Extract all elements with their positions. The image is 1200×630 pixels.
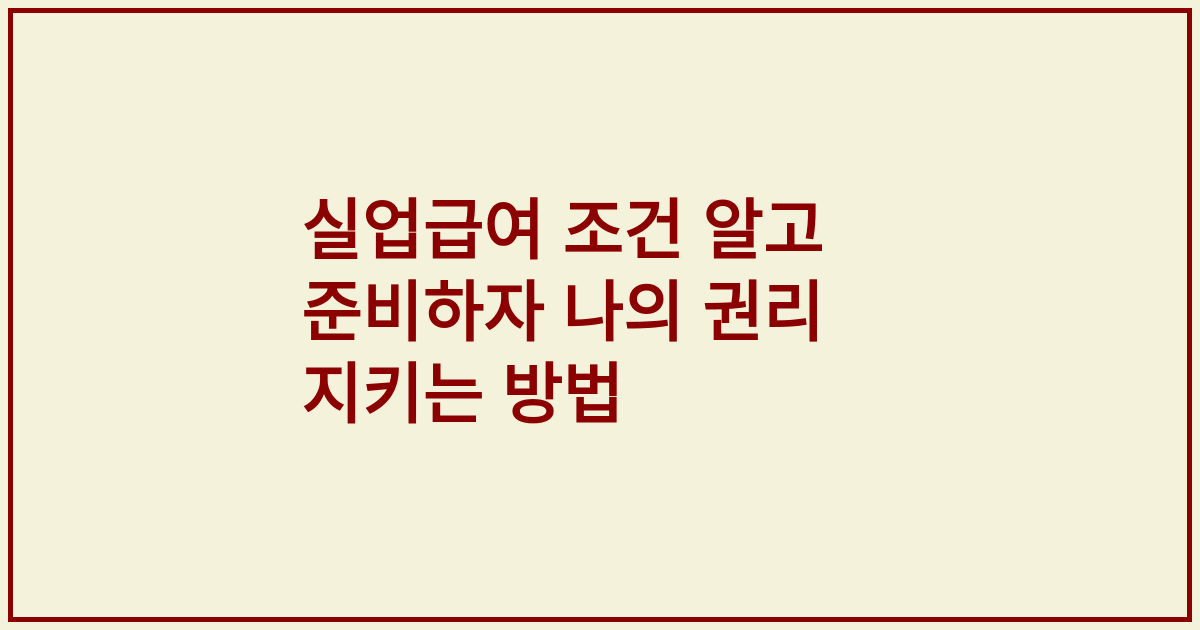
title-line-1: 실업급여 조건 알고: [302, 189, 824, 271]
thumbnail-card: 실업급여 조건 알고 준비하자 나의 권리 지키는 방법: [0, 0, 1200, 630]
page-title: 실업급여 조건 알고 준비하자 나의 권리 지키는 방법: [302, 189, 824, 435]
title-line-3: 지키는 방법: [302, 353, 824, 435]
title-line-2: 준비하자 나의 권리: [302, 271, 824, 353]
decorative-border-frame: 실업급여 조건 알고 준비하자 나의 권리 지키는 방법: [8, 8, 1192, 622]
